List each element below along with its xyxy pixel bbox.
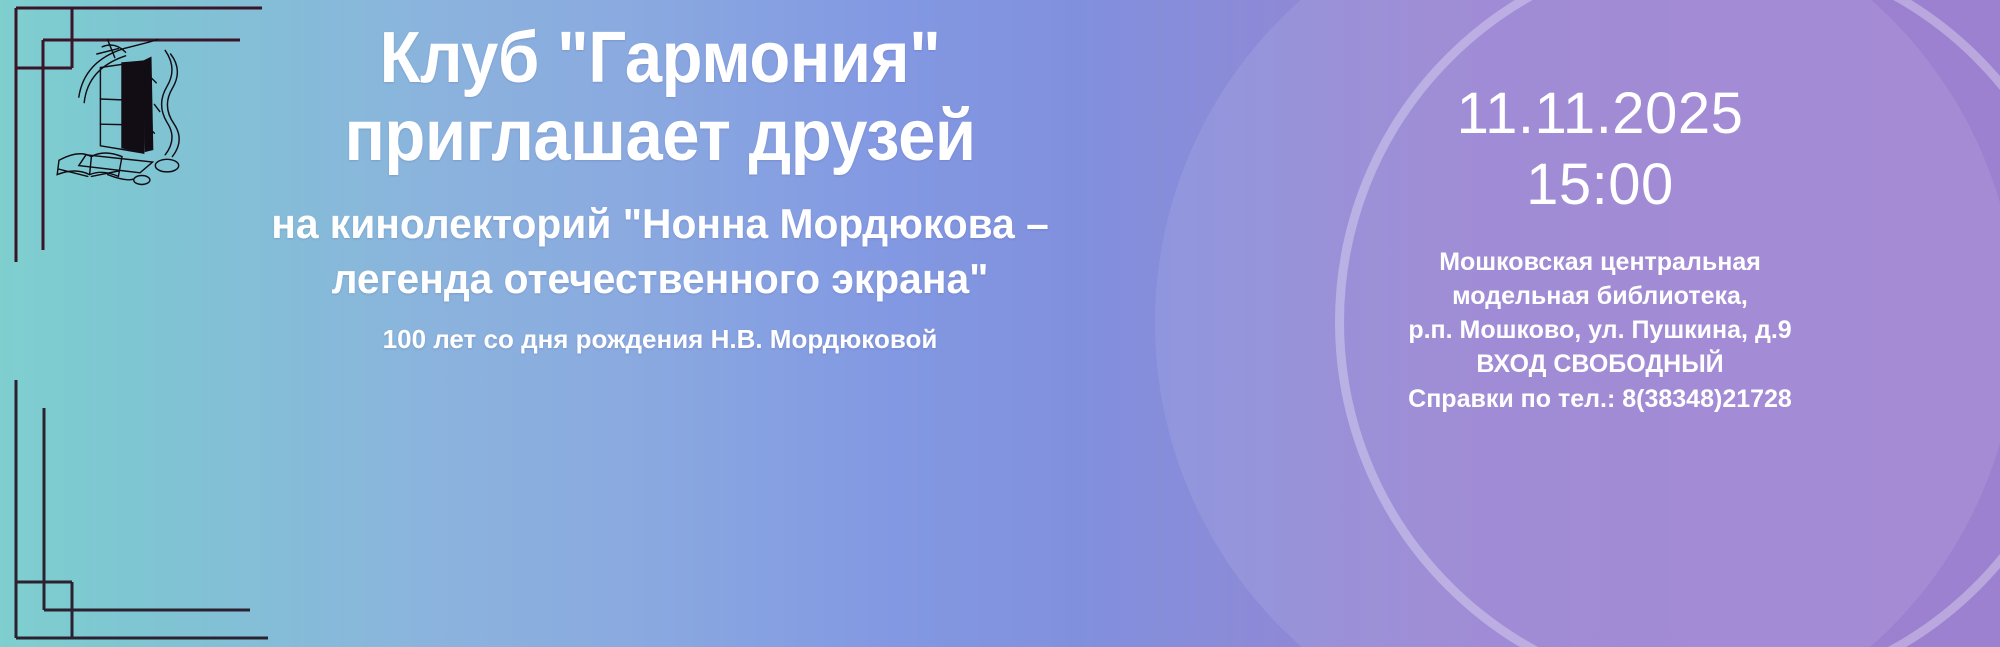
event-time: 15:00 <box>1340 149 1860 220</box>
right-info-block: 11.11.2025 15:00 Мошковская центральная … <box>1340 78 1860 416</box>
venue-line-1: Мошковская центральная <box>1340 245 1860 279</box>
anniversary-note: 100 лет со дня рождения Н.В. Мордюковой <box>150 307 1170 357</box>
venue-address: р.п. Мошково, ул. Пушкина, д.9 <box>1340 313 1860 347</box>
event-poster: Клуб "Гармония" приглашает друзей на кин… <box>0 0 2000 647</box>
free-entry-note: ВХОД СВОБОДНЫЙ <box>1340 347 1860 381</box>
corner-frame-bottom-left-icon <box>0 360 300 647</box>
venue-details: Мошковская центральная модельная библиот… <box>1340 221 1860 416</box>
page-title: Клуб "Гармония" приглашает друзей <box>186 10 1135 176</box>
subtitle-line-2: легенда отечественного экрана" <box>165 251 1154 307</box>
subtitle-line-1: на кинолекторий "Нонна Мордюкова – <box>165 196 1154 252</box>
title-line-2: приглашает друзей <box>186 98 1135 176</box>
event-datetime: 11.11.2025 15:00 <box>1340 78 1860 221</box>
left-text-block: Клуб "Гармония" приглашает друзей на кин… <box>150 10 1170 357</box>
title-line-1: Клуб "Гармония" <box>186 20 1135 98</box>
event-subtitle: на кинолекторий "Нонна Мордюкова – леген… <box>165 176 1154 308</box>
venue-line-2: модельная библиотека, <box>1340 279 1860 313</box>
contact-phone: Справки по тел.: 8(38348)21728 <box>1340 382 1860 416</box>
event-date: 11.11.2025 <box>1340 78 1860 149</box>
